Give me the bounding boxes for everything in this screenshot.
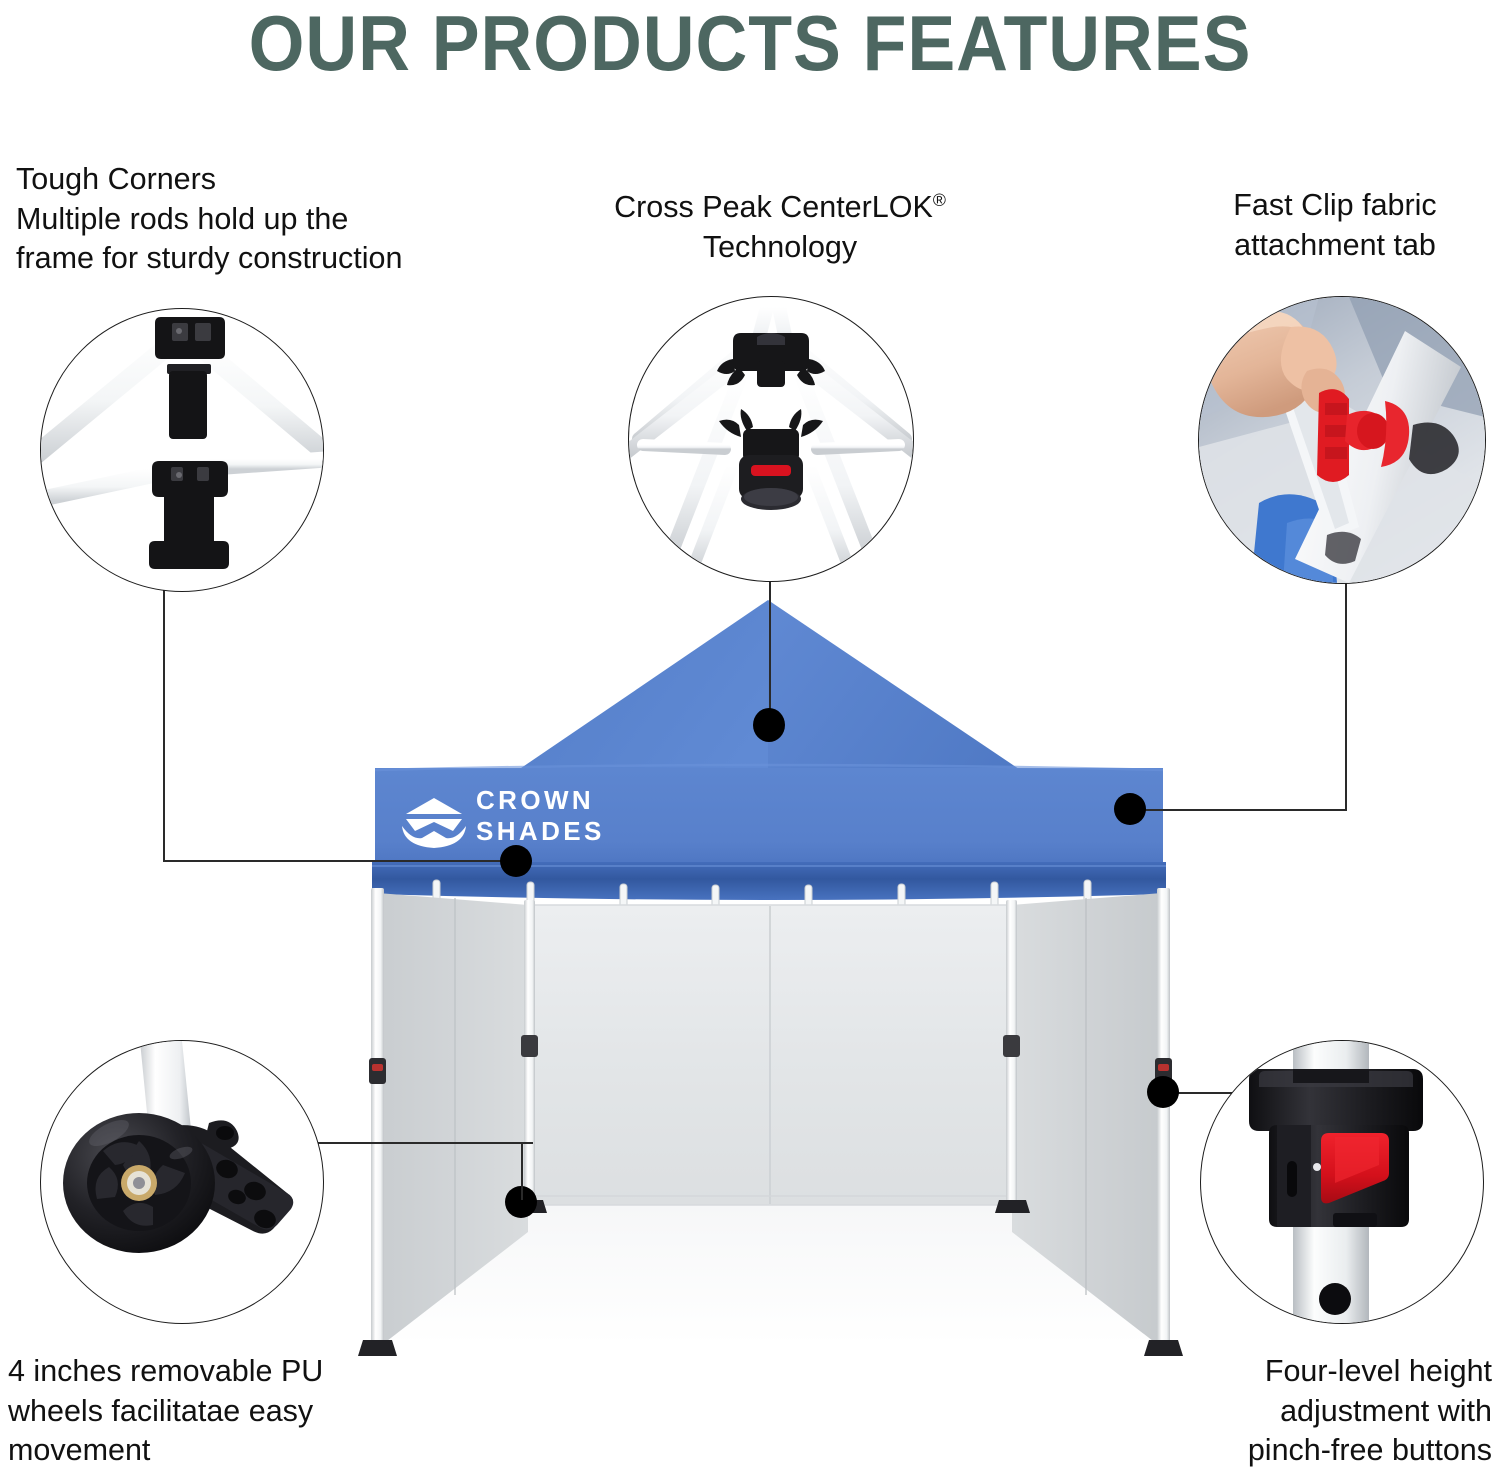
leg-front-right xyxy=(1157,888,1170,1353)
caption-fast-clip: Fast Clip fabric attachment tab xyxy=(1180,186,1490,265)
callout-dot-centerlok xyxy=(753,708,785,742)
connector-line-wheels-h xyxy=(316,1142,533,1144)
infographic-canvas: OUR PRODUCTS FEATURES xyxy=(0,0,1500,1481)
connector-line-fast-clip-h xyxy=(1130,809,1347,811)
caption-line: pinch-free buttons xyxy=(1100,1431,1492,1471)
callout-image-fast-clip xyxy=(1198,296,1486,584)
caption-line: Technology xyxy=(560,228,1000,268)
leg-adjust-hole xyxy=(1319,1283,1351,1315)
callout-dot-tough-corners xyxy=(500,845,532,877)
callout-dot-fast-clip xyxy=(1114,793,1146,825)
caption-line: attachment tab xyxy=(1180,226,1490,266)
pu-wheel xyxy=(63,1113,215,1253)
caption-pu-wheels: 4 inches removable PU wheels facilitatae… xyxy=(8,1352,323,1471)
connector-line-tough-corners-v xyxy=(163,586,165,862)
registered-mark: ® xyxy=(933,190,946,210)
caption-line: Cross Peak CenterLOK® xyxy=(560,188,1000,228)
callout-dot-height xyxy=(1147,1076,1179,1108)
caption-tough-corners: Tough Corners Multiple rods hold up the … xyxy=(16,160,402,279)
connector-line-fast-clip-v xyxy=(1345,576,1347,810)
leg-front-left xyxy=(371,888,384,1353)
connector-line-tough-corners-h xyxy=(163,860,515,862)
caption-line: Tough Corners xyxy=(16,160,402,200)
caption-line: movement xyxy=(8,1431,323,1471)
connector-line-centerlok-v xyxy=(769,575,771,725)
canopy-hem xyxy=(372,862,1166,900)
connector-line-wheels-v xyxy=(521,1142,523,1200)
caption-line: Four-level height xyxy=(1100,1352,1492,1392)
caption-line: Fast Clip fabric xyxy=(1180,186,1490,226)
brand-name-line2: SHADES xyxy=(476,816,605,846)
caption-centerlok: Cross Peak CenterLOK® Technology xyxy=(560,188,1000,267)
caption-line: adjustment with xyxy=(1100,1392,1492,1432)
caption-line: 4 inches removable PU xyxy=(8,1352,323,1392)
brand-name-line1: CROWN xyxy=(476,785,594,815)
caption-line: wheels facilitatae easy xyxy=(8,1392,323,1432)
height-collar xyxy=(1249,1069,1423,1227)
caption-line: frame for sturdy construction xyxy=(16,239,402,279)
callout-image-centerlok xyxy=(628,296,914,582)
caption-line: Multiple rods hold up the xyxy=(16,200,402,240)
centerlok-release-button xyxy=(751,465,791,476)
callout-image-height-adjust xyxy=(1200,1040,1484,1324)
callout-image-tough-corners xyxy=(40,308,324,592)
callout-image-pu-wheels xyxy=(40,1040,324,1324)
caption-height-adjust: Four-level height adjustment with pinch-… xyxy=(1100,1352,1492,1471)
